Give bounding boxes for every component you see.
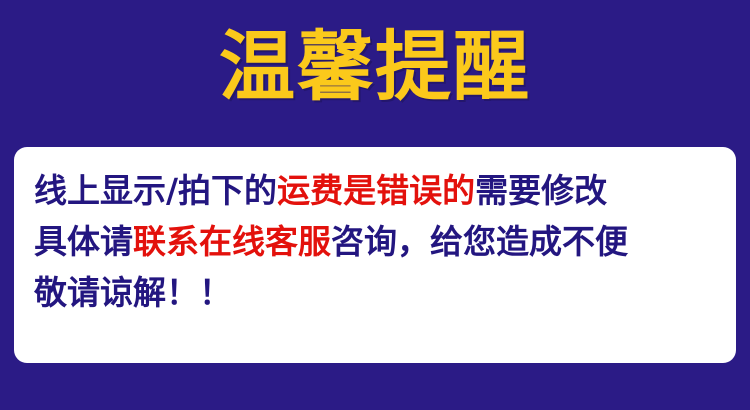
banner-title: 温馨提醒: [219, 29, 531, 105]
notice-line-1-segment-3: 需要修改: [475, 171, 607, 210]
notice-line-2: 具体请联系在线客服咨询，给您造成不便: [34, 216, 726, 267]
banner-title-area: 温馨提醒: [0, 14, 750, 119]
notice-card: 线上显示/拍下的运费是错误的需要修改 具体请联系在线客服咨询，给您造成不便 敬请…: [14, 147, 736, 363]
notice-line-3: 敬请谅解！！: [34, 267, 726, 318]
notice-line-1-segment-2: 运费是错误的: [277, 171, 475, 210]
notice-line-2-segment-3: 咨询，给您造成不便: [331, 222, 628, 261]
notice-card-body: 线上显示/拍下的运费是错误的需要修改 具体请联系在线客服咨询，给您造成不便 敬请…: [34, 165, 726, 318]
notice-banner: 温馨提醒 线上显示/拍下的运费是错误的需要修改 具体请联系在线客服咨询，给您造成…: [0, 0, 750, 410]
notice-line-1-segment-1: 线上显示/拍下的: [34, 171, 277, 210]
notice-line-2-segment-1: 具体请: [34, 222, 133, 261]
notice-line-1: 线上显示/拍下的运费是错误的需要修改: [34, 165, 726, 216]
notice-line-2-segment-2: 联系在线客服: [133, 222, 331, 261]
notice-line-3-segment-1: 敬请谅解！！: [34, 273, 232, 312]
